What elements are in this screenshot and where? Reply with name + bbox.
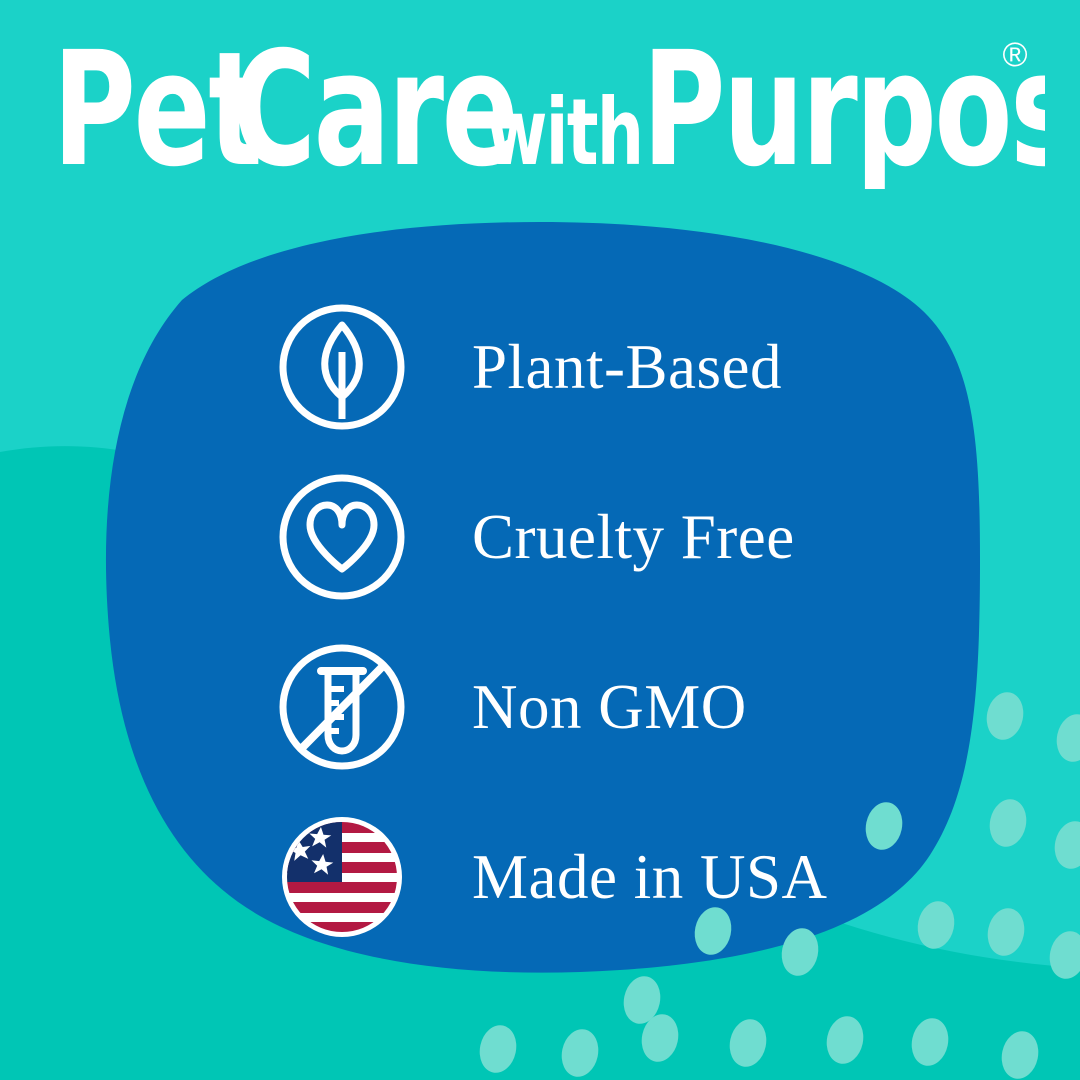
registered-trademark-symbol: ® <box>1002 36 1027 74</box>
benefit-label-non-gmo: Non GMO <box>472 676 747 739</box>
headline: Pet Care with Purpose ® <box>0 24 1080 194</box>
headline-word-purpose: Purpose <box>642 24 1045 189</box>
benefit-row-made-in-usa: Made in USA <box>272 792 972 962</box>
pet-care-promo-graphic: Pet Care with Purpose ® Plant-Based <box>0 0 1080 1080</box>
benefit-label-made-in-usa: Made in USA <box>472 846 827 909</box>
benefit-label-cruelty-free: Cruelty Free <box>472 506 795 569</box>
headline-word-pet: Pet <box>53 24 261 189</box>
benefit-row-non-gmo: Non GMO <box>272 622 972 792</box>
benefit-row-plant-based: Plant-Based <box>272 282 972 452</box>
benefit-label-plant-based: Plant-Based <box>472 336 782 399</box>
benefits-list: Plant-Based Cruelty Free <box>272 282 972 962</box>
usa-flag-circle-icon <box>272 807 412 947</box>
headline-lettering: Pet Care with Purpose ® <box>35 24 1045 189</box>
benefit-row-cruelty-free: Cruelty Free <box>272 452 972 622</box>
leaf-in-circle-icon <box>272 297 412 437</box>
headline-word-care: Care <box>233 24 517 189</box>
no-test-tube-icon <box>272 637 412 777</box>
heart-in-circle-icon <box>272 467 412 607</box>
headline-word-with: with <box>486 79 642 186</box>
